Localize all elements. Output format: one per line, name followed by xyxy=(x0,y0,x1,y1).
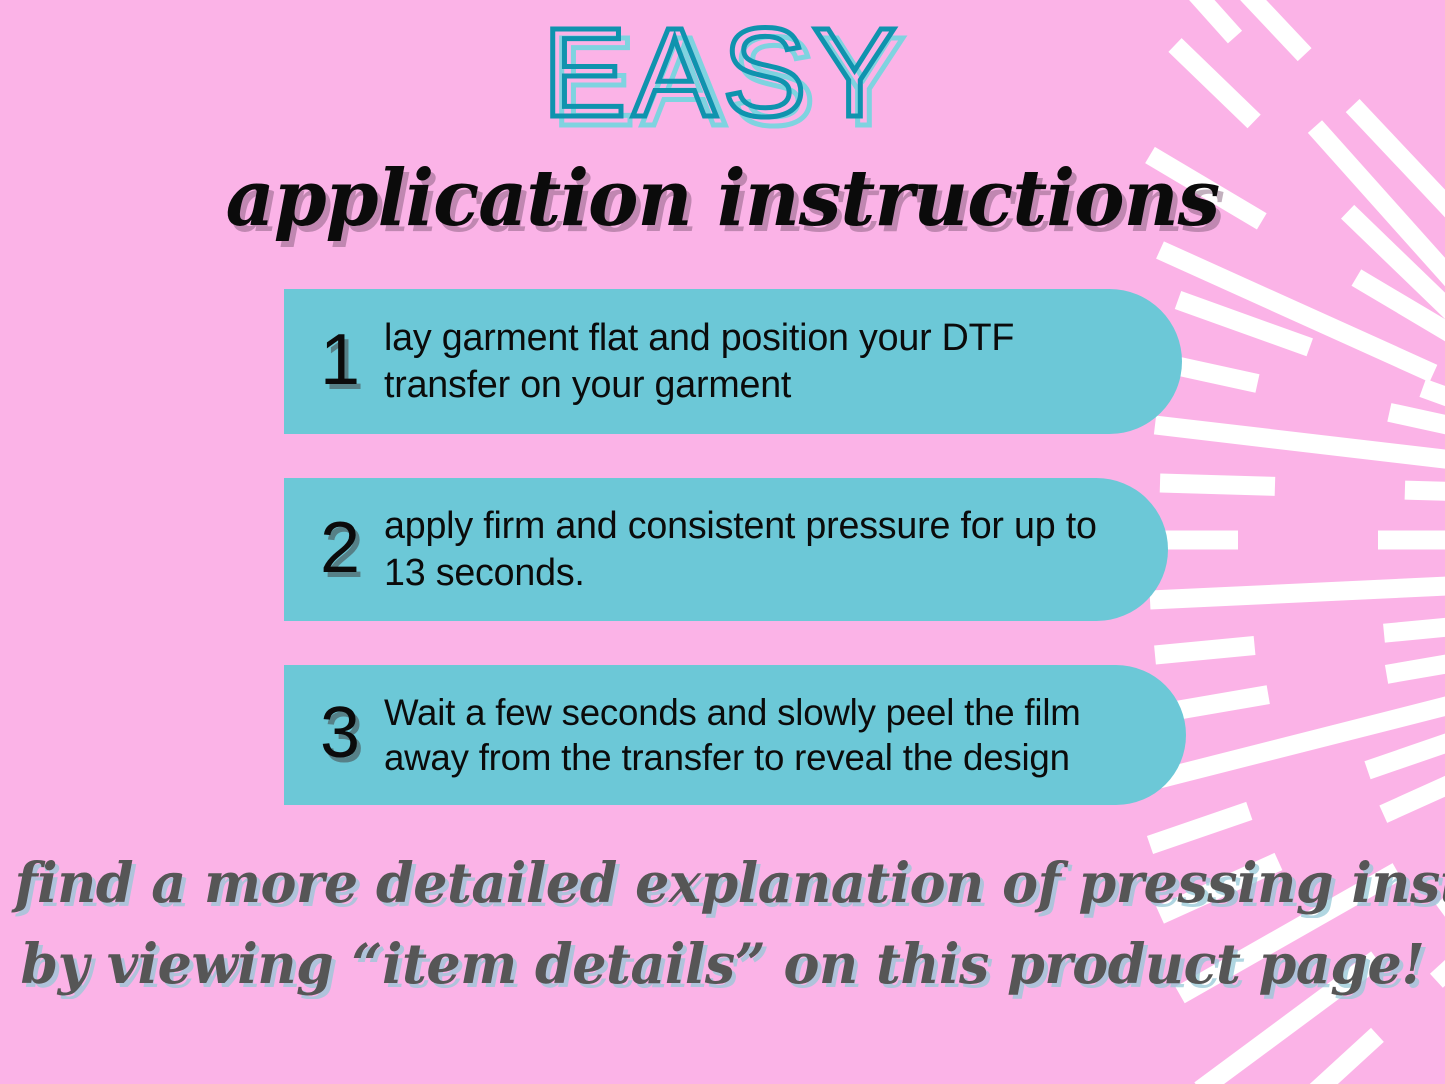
footer-line-1: find a more detailed explanation of pres… xyxy=(14,855,1430,910)
footer-line-2: by viewing “item details” on this produc… xyxy=(14,936,1430,991)
page-subtitle-wrapper: application instructions xyxy=(0,160,1445,238)
step-item-2: 2 apply firm and consistent pressure for… xyxy=(284,478,1168,621)
page-title-wrapper: EASY EASY xyxy=(0,10,1445,136)
step-number-2: 2 xyxy=(320,512,360,584)
steps-list: 1 lay garment flat and position your DTF… xyxy=(284,289,1184,805)
step-text-3: Wait a few seconds and slowly peel the f… xyxy=(384,690,1115,780)
step-item-3: 3 Wait a few seconds and slowly peel the… xyxy=(284,665,1186,805)
application-instructions-poster: EASY EASY application instructions 1 lay… xyxy=(0,0,1445,1084)
footer-note: find a more detailed explanation of pres… xyxy=(0,855,1445,1017)
step-number-3: 3 xyxy=(320,697,360,769)
step-number-1: 1 xyxy=(320,324,360,396)
page-title-stack: EASY EASY xyxy=(542,10,902,136)
page-title: EASY xyxy=(542,10,902,136)
step-text-1: lay garment flat and position your DTF t… xyxy=(384,315,1111,408)
page-subtitle: application instructions xyxy=(22,160,1424,238)
step-item-1: 1 lay garment flat and position your DTF… xyxy=(284,289,1182,434)
step-text-2: apply firm and consistent pressure for u… xyxy=(384,503,1097,596)
